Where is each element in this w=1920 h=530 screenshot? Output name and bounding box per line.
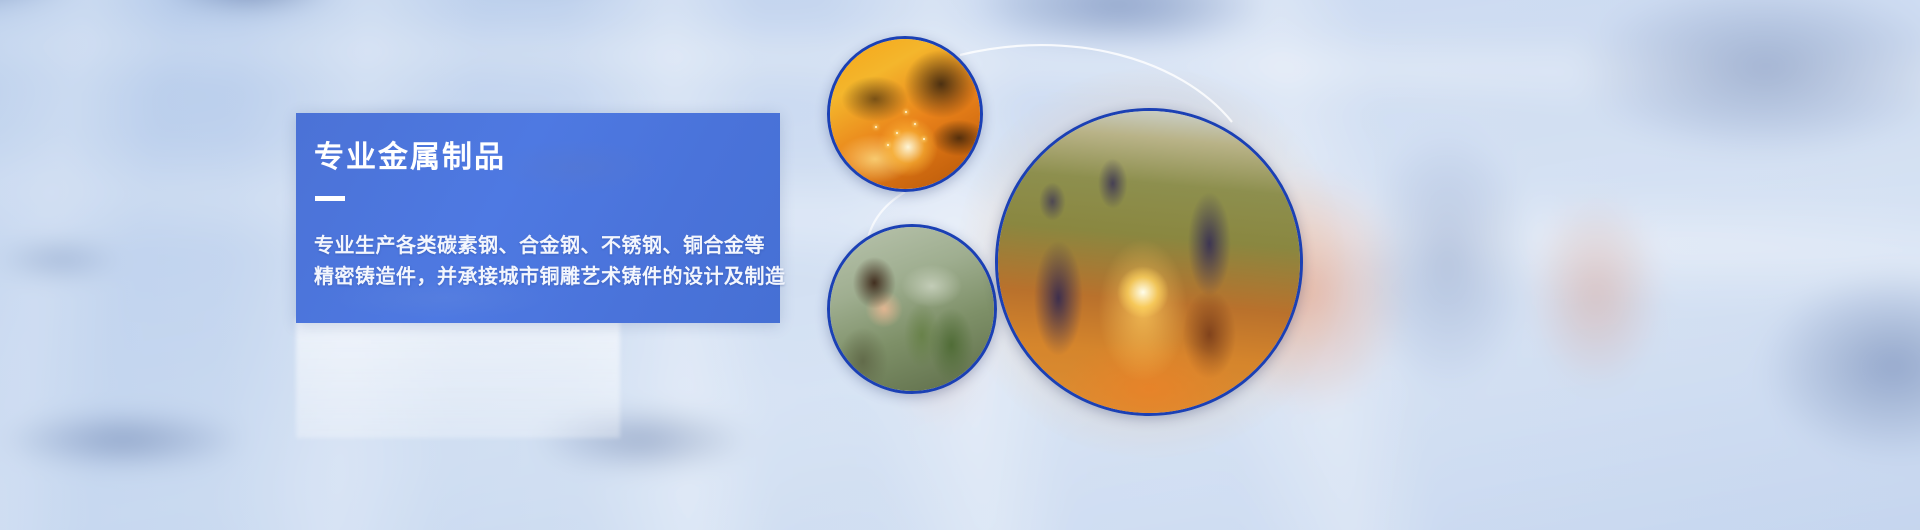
- foundry-pour-photo-image: [998, 111, 1300, 413]
- title-divider-rule: [315, 196, 345, 201]
- spark-dot-icon: [905, 111, 907, 113]
- spark-dot-icon: [923, 138, 925, 140]
- promo-description-line-2: 精密铸造件，并承接城市铜雕艺术铸件的设计及制造: [314, 262, 780, 293]
- foundry-pour-photo: [995, 108, 1303, 416]
- promo-text-panel-inner: 专业金属制品 专业生产各类碳素钢、合金钢、不锈钢、铜合金等 精密铸造件，并承接城…: [296, 113, 780, 293]
- welding-sparks-photo: [827, 36, 983, 192]
- spark-dot-icon: [875, 126, 877, 128]
- spark-dot-icon: [896, 132, 898, 134]
- technician-photo-image: [830, 227, 994, 391]
- technician-photo: [827, 224, 997, 394]
- white-plate-decoration: [296, 318, 620, 438]
- promo-description: 专业生产各类碳素钢、合金钢、不锈钢、铜合金等 精密铸造件，并承接城市铜雕艺术铸件…: [306, 231, 780, 293]
- promo-description-line-1: 专业生产各类碳素钢、合金钢、不锈钢、铜合金等: [314, 231, 780, 262]
- promo-text-panel: 专业金属制品 专业生产各类碳素钢、合金钢、不锈钢、铜合金等 精密铸造件，并承接城…: [296, 113, 780, 323]
- page-title: 专业金属制品: [306, 141, 780, 174]
- spark-dot-icon: [887, 144, 889, 146]
- welding-sparks-photo-image: [830, 39, 980, 189]
- spark-dot-icon: [914, 123, 916, 125]
- hero-banner: 专业金属制品 专业生产各类碳素钢、合金钢、不锈钢、铜合金等 精密铸造件，并承接城…: [0, 0, 1920, 530]
